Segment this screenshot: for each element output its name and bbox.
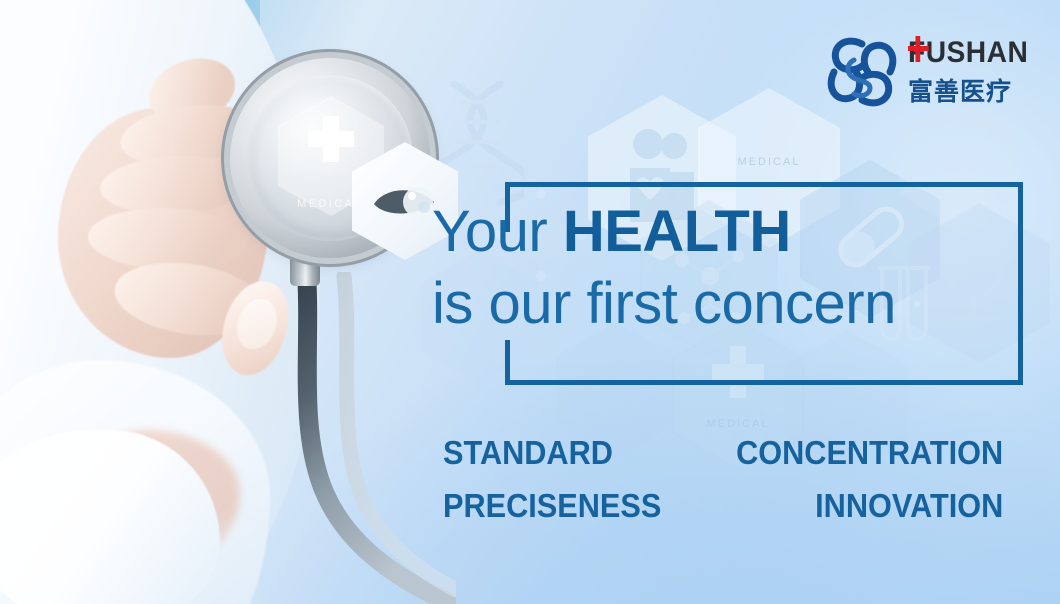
logo-en-wrap: FUSHAN — [908, 36, 1032, 72]
headline-line-2: is our first concern — [432, 268, 1032, 340]
headline-health: HEALTH — [563, 199, 791, 264]
headline-prefix: Your — [432, 199, 563, 264]
keyword-concentration: CONCENTRATION — [736, 434, 1003, 472]
keyword-list: STANDARD CONCENTRATION PRECISENESS INNOV… — [443, 434, 1003, 540]
fushan-swirl-logo-icon — [820, 30, 904, 114]
keyword-standard: STANDARD — [443, 434, 613, 472]
hero-banner: MEDICAL — [0, 0, 1060, 604]
brand-logo[interactable]: FUSHAN 富善医疗 — [820, 26, 1032, 118]
stethoscope-icon — [226, 272, 456, 604]
headline: Your HEALTH is our first concern — [432, 196, 1032, 340]
medical-cross-icon — [308, 116, 354, 162]
logo-text: FUSHAN 富善医疗 — [908, 36, 1032, 108]
logo-brand-cn: 富善医疗 — [908, 72, 1032, 108]
keyword-row: PRECISENESS INNOVATION — [443, 487, 1003, 540]
keyword-innovation: INNOVATION — [815, 487, 1003, 525]
keyword-preciseness: PRECISENESS — [443, 487, 661, 525]
keyword-row: STANDARD CONCENTRATION — [443, 434, 1003, 487]
red-cross-accent-icon — [908, 36, 929, 62]
headline-line-1: Your HEALTH — [432, 196, 1032, 268]
